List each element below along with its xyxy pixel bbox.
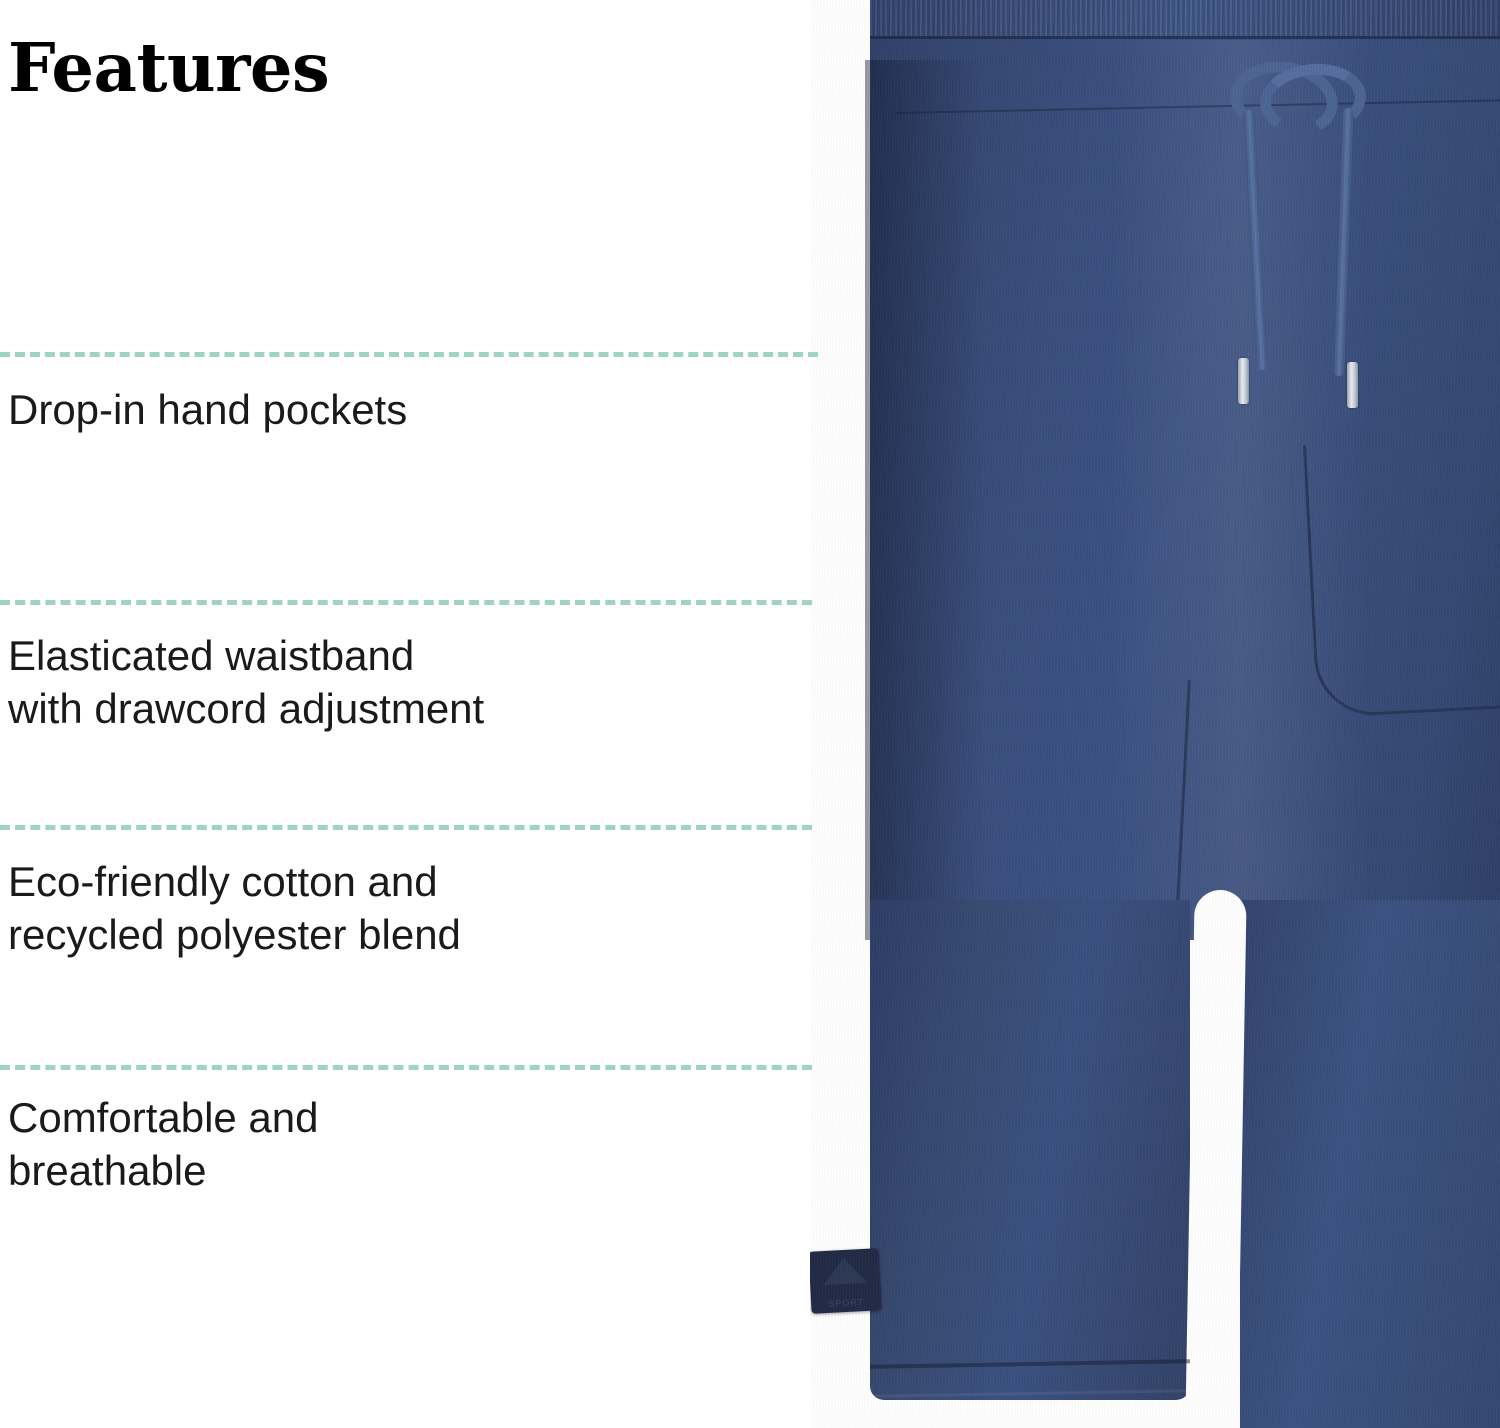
- feature-item-4: Comfortable and breathable: [8, 1092, 319, 1197]
- feature-divider-1: [0, 352, 818, 357]
- brand-tag-label: SPORT: [811, 1296, 881, 1310]
- shorts-left-leg: [870, 900, 1190, 1400]
- waistband-seam: [870, 36, 1500, 39]
- feature-divider-2: [0, 600, 812, 605]
- feature-divider-4: [0, 1065, 812, 1070]
- hand-pocket-seam: [1303, 435, 1500, 718]
- product-photo: SPORT: [810, 0, 1500, 1428]
- brand-tag: SPORT: [810, 1248, 882, 1314]
- features-panel: Features Drop-in hand pockets Elasticate…: [0, 0, 820, 1428]
- shorts-left-shading: [865, 60, 985, 940]
- drawcord-aglet-left: [1238, 358, 1249, 404]
- shorts-garment: SPORT: [810, 0, 1500, 1428]
- feature-item-3: Eco-friendly cotton and recycled polyest…: [8, 856, 461, 961]
- shorts-right-leg: [1240, 900, 1500, 1428]
- drawcord-aglet-right: [1347, 362, 1358, 408]
- feature-item-1: Drop-in hand pockets: [8, 384, 407, 437]
- feature-divider-3: [0, 825, 812, 830]
- leg-gap: [1185, 890, 1246, 1428]
- mountain-logo-icon: [822, 1257, 867, 1285]
- elasticated-waistband: [870, 0, 1500, 36]
- feature-item-2: Elasticated waistband with drawcord adju…: [8, 630, 484, 735]
- page-title: Features: [8, 28, 329, 107]
